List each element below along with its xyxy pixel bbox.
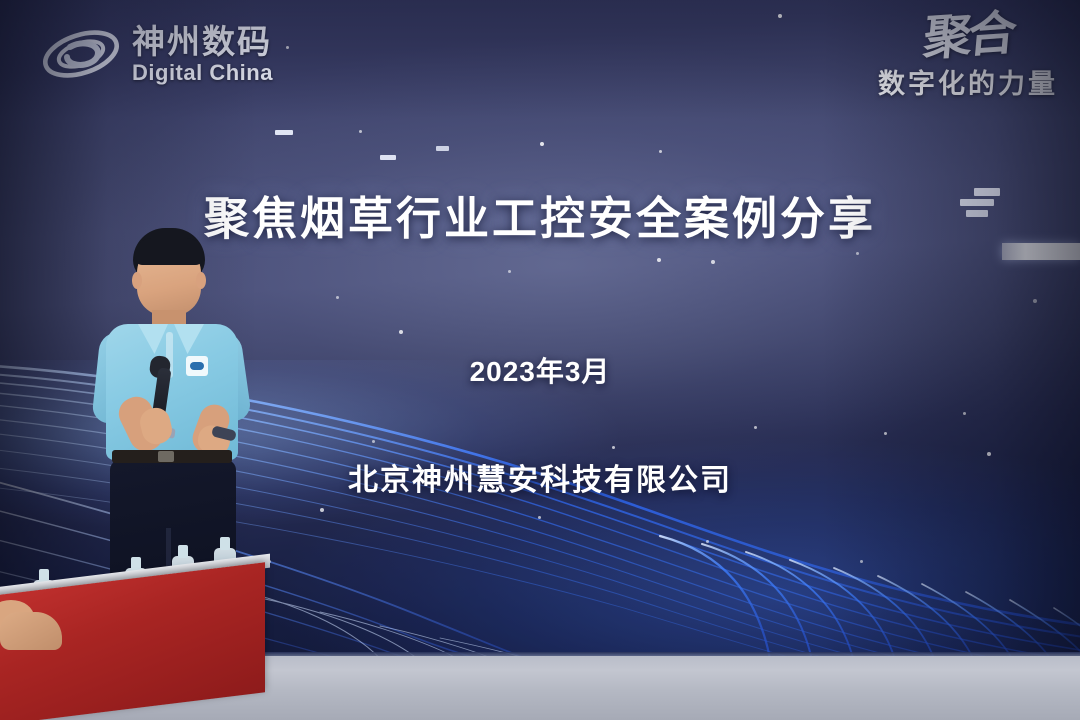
digital-china-logo: 神州数码 Digital China [40,20,273,88]
logo-chinese-name: 神州数码 [132,25,273,58]
speaker-belt-buckle [158,451,174,462]
event-brush-text: 聚合 [875,8,1061,66]
logo-english-name: Digital China [132,62,273,84]
speaker-fringe [134,238,204,265]
speaker-ear-right [196,272,206,289]
digital-china-swirl-logo [40,20,122,88]
event-tagline: 数字化的力量 [878,62,1058,101]
screen-light-bar [1002,243,1080,260]
speaker-chest-logo [186,356,208,376]
speaker-ear-left [132,272,142,289]
event-theme-logo: 聚合 数字化的力量 [878,14,1058,101]
conference-stage-photo: 聚焦烟草行业工控安全案例分享 2023年3月 北京神州慧安科技有限公司 神州数码… [0,0,1080,720]
audience-member-hand [0,612,62,650]
